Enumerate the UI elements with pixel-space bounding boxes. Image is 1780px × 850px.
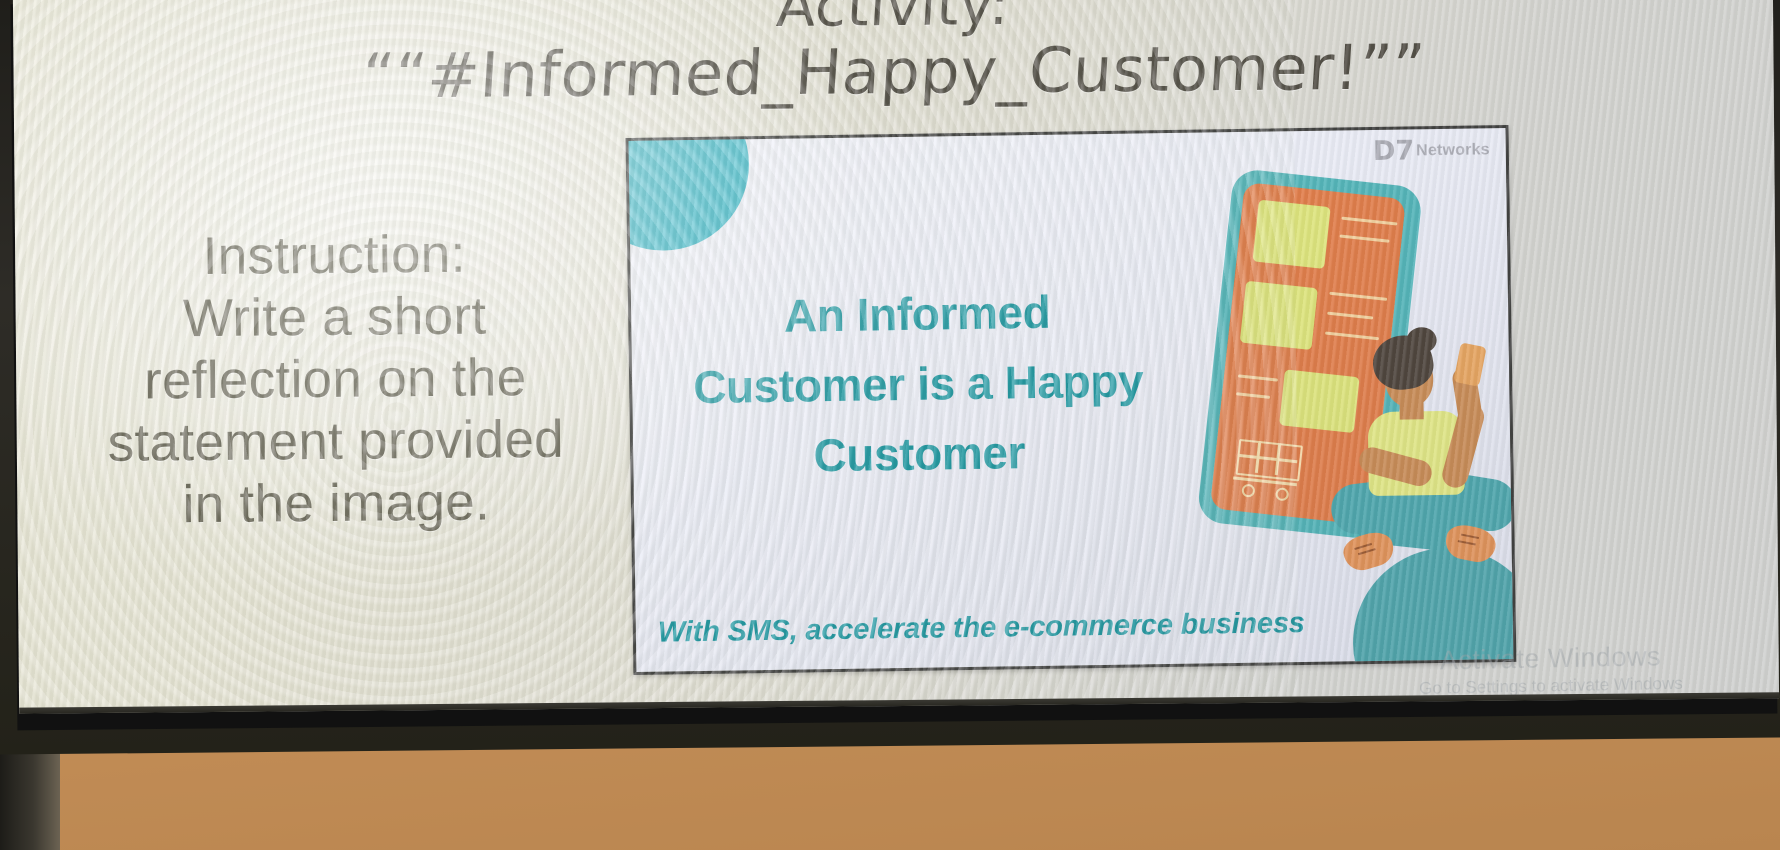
instruction-block: Instruction: Write a short reflection on… <box>29 222 642 537</box>
instruction-line-1: Instruction: <box>29 222 640 289</box>
instruction-line-4: statement provided <box>31 408 642 475</box>
text-line <box>1327 312 1373 320</box>
title-line-1: Activity: <box>13 0 1775 44</box>
slide-title: Activity: ““#Informed_Happy_Customer!”” <box>13 0 1774 116</box>
headline-line-2: Customer is a Happy <box>658 345 1179 423</box>
headline-line-3: Customer <box>659 415 1180 493</box>
marketing-headline: An Informed Customer is a Happy Customer <box>657 275 1180 493</box>
hair-bun <box>1406 327 1436 353</box>
content-tile <box>1240 281 1318 350</box>
instruction-line-3: reflection on the <box>30 346 641 413</box>
person-figure <box>1310 326 1516 579</box>
cart-wheel <box>1275 487 1289 501</box>
shopping-cart-icon <box>1235 439 1301 487</box>
cart-wheel <box>1241 483 1255 497</box>
shoe-lace <box>1358 548 1376 555</box>
illustration-person-with-phone <box>1184 162 1516 587</box>
text-line <box>1238 374 1278 381</box>
instruction-line-5: in the image. <box>31 470 642 537</box>
slide-screen: Activity: ““#Informed_Happy_Customer!”” … <box>13 0 1779 714</box>
teal-circle-top-left <box>626 125 751 252</box>
photo-scene: Activity: ““#Informed_Happy_Customer!”” … <box>0 0 1780 850</box>
embedded-marketing-image: D7 Networks An Informed Customer is a Ha… <box>626 125 1517 675</box>
marketing-tagline: With SMS, accelerate the e-commerce busi… <box>658 606 1398 650</box>
instruction-line-2: Write a short <box>29 284 640 351</box>
text-line <box>1341 217 1397 226</box>
headline-line-1: An Informed <box>657 275 1178 353</box>
text-line <box>1236 392 1270 399</box>
content-tile <box>1252 200 1330 269</box>
logo-text: Networks <box>1416 141 1490 160</box>
title-line-2: ““#Informed_Happy_Customer!”” <box>13 28 1776 115</box>
d7-networks-logo: D7 Networks <box>1373 136 1490 165</box>
logo-mark-icon: D7 <box>1373 137 1415 165</box>
shoe-lace <box>1458 540 1476 545</box>
text-line <box>1340 234 1390 242</box>
shoe-lace <box>1461 534 1479 539</box>
text-line <box>1329 292 1387 301</box>
handheld-phone-icon <box>1453 342 1486 386</box>
